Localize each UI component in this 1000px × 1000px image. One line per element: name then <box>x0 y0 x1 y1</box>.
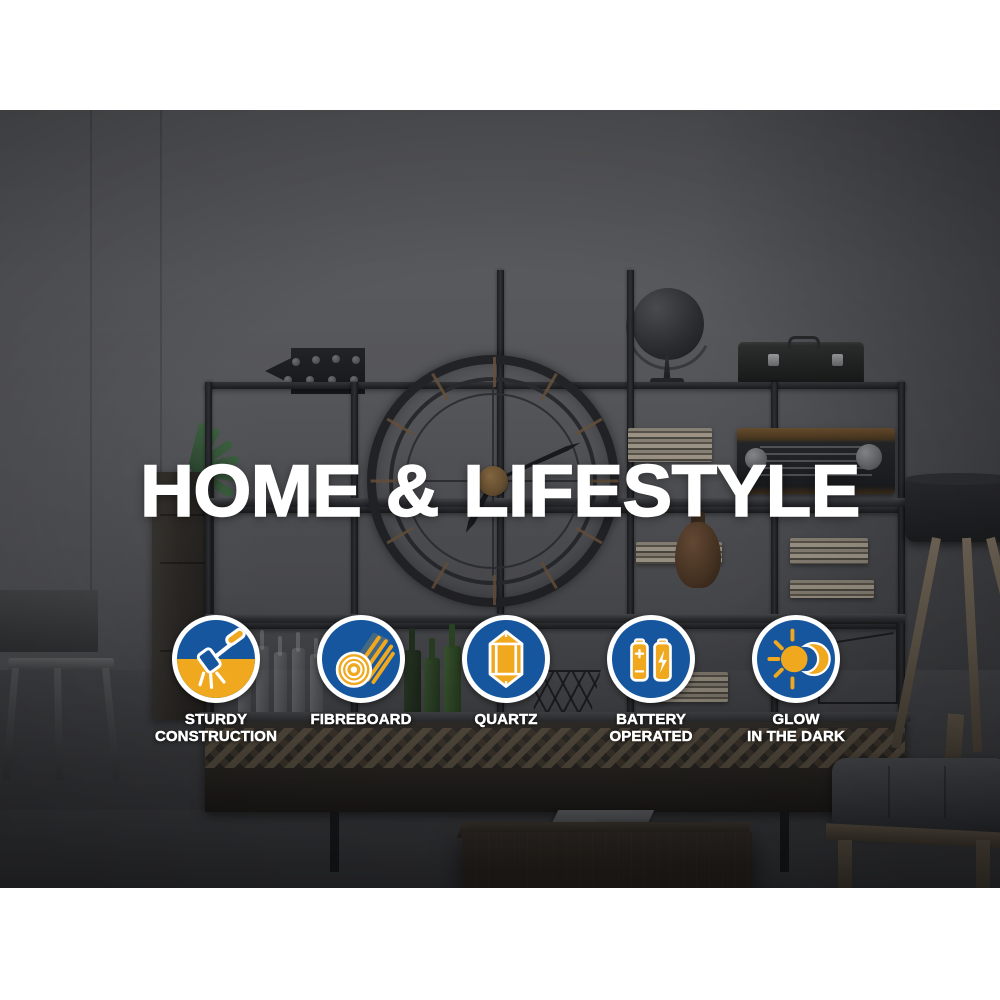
feature-badge-row: STURDY CONSTRUCTION <box>150 615 862 785</box>
feature-label: GLOW IN THE DARK <box>747 712 845 746</box>
banner-canvas: HOME & LIFESTYLE <box>0 0 1000 1000</box>
bottom-white-band <box>0 888 1000 1000</box>
feature-label: FIBREBOARD <box>311 712 412 729</box>
top-white-band <box>0 0 1000 110</box>
feature-sturdy-construction[interactable]: STURDY CONSTRUCTION <box>150 615 282 746</box>
feature-label: BATTERY OPERATED <box>609 712 692 746</box>
sun-moon-icon <box>752 615 840 703</box>
marketing-overlay: HOME & LIFESTYLE <box>0 110 1000 888</box>
feature-glow-in-the-dark[interactable]: GLOW IN THE DARK <box>730 615 862 746</box>
feature-quartz[interactable]: QUARTZ <box>440 615 572 729</box>
feature-fibreboard[interactable]: FIBREBOARD <box>295 615 427 729</box>
feature-label: STURDY CONSTRUCTION <box>155 712 277 746</box>
wood-log-icon <box>317 615 405 703</box>
gem-crystal-icon <box>462 615 550 703</box>
hammer-icon <box>172 615 260 703</box>
battery-icon <box>607 615 695 703</box>
feature-battery-operated[interactable]: BATTERY OPERATED <box>585 615 717 746</box>
feature-label: QUARTZ <box>474 712 537 729</box>
page-title: HOME & LIFESTYLE <box>0 455 1000 528</box>
